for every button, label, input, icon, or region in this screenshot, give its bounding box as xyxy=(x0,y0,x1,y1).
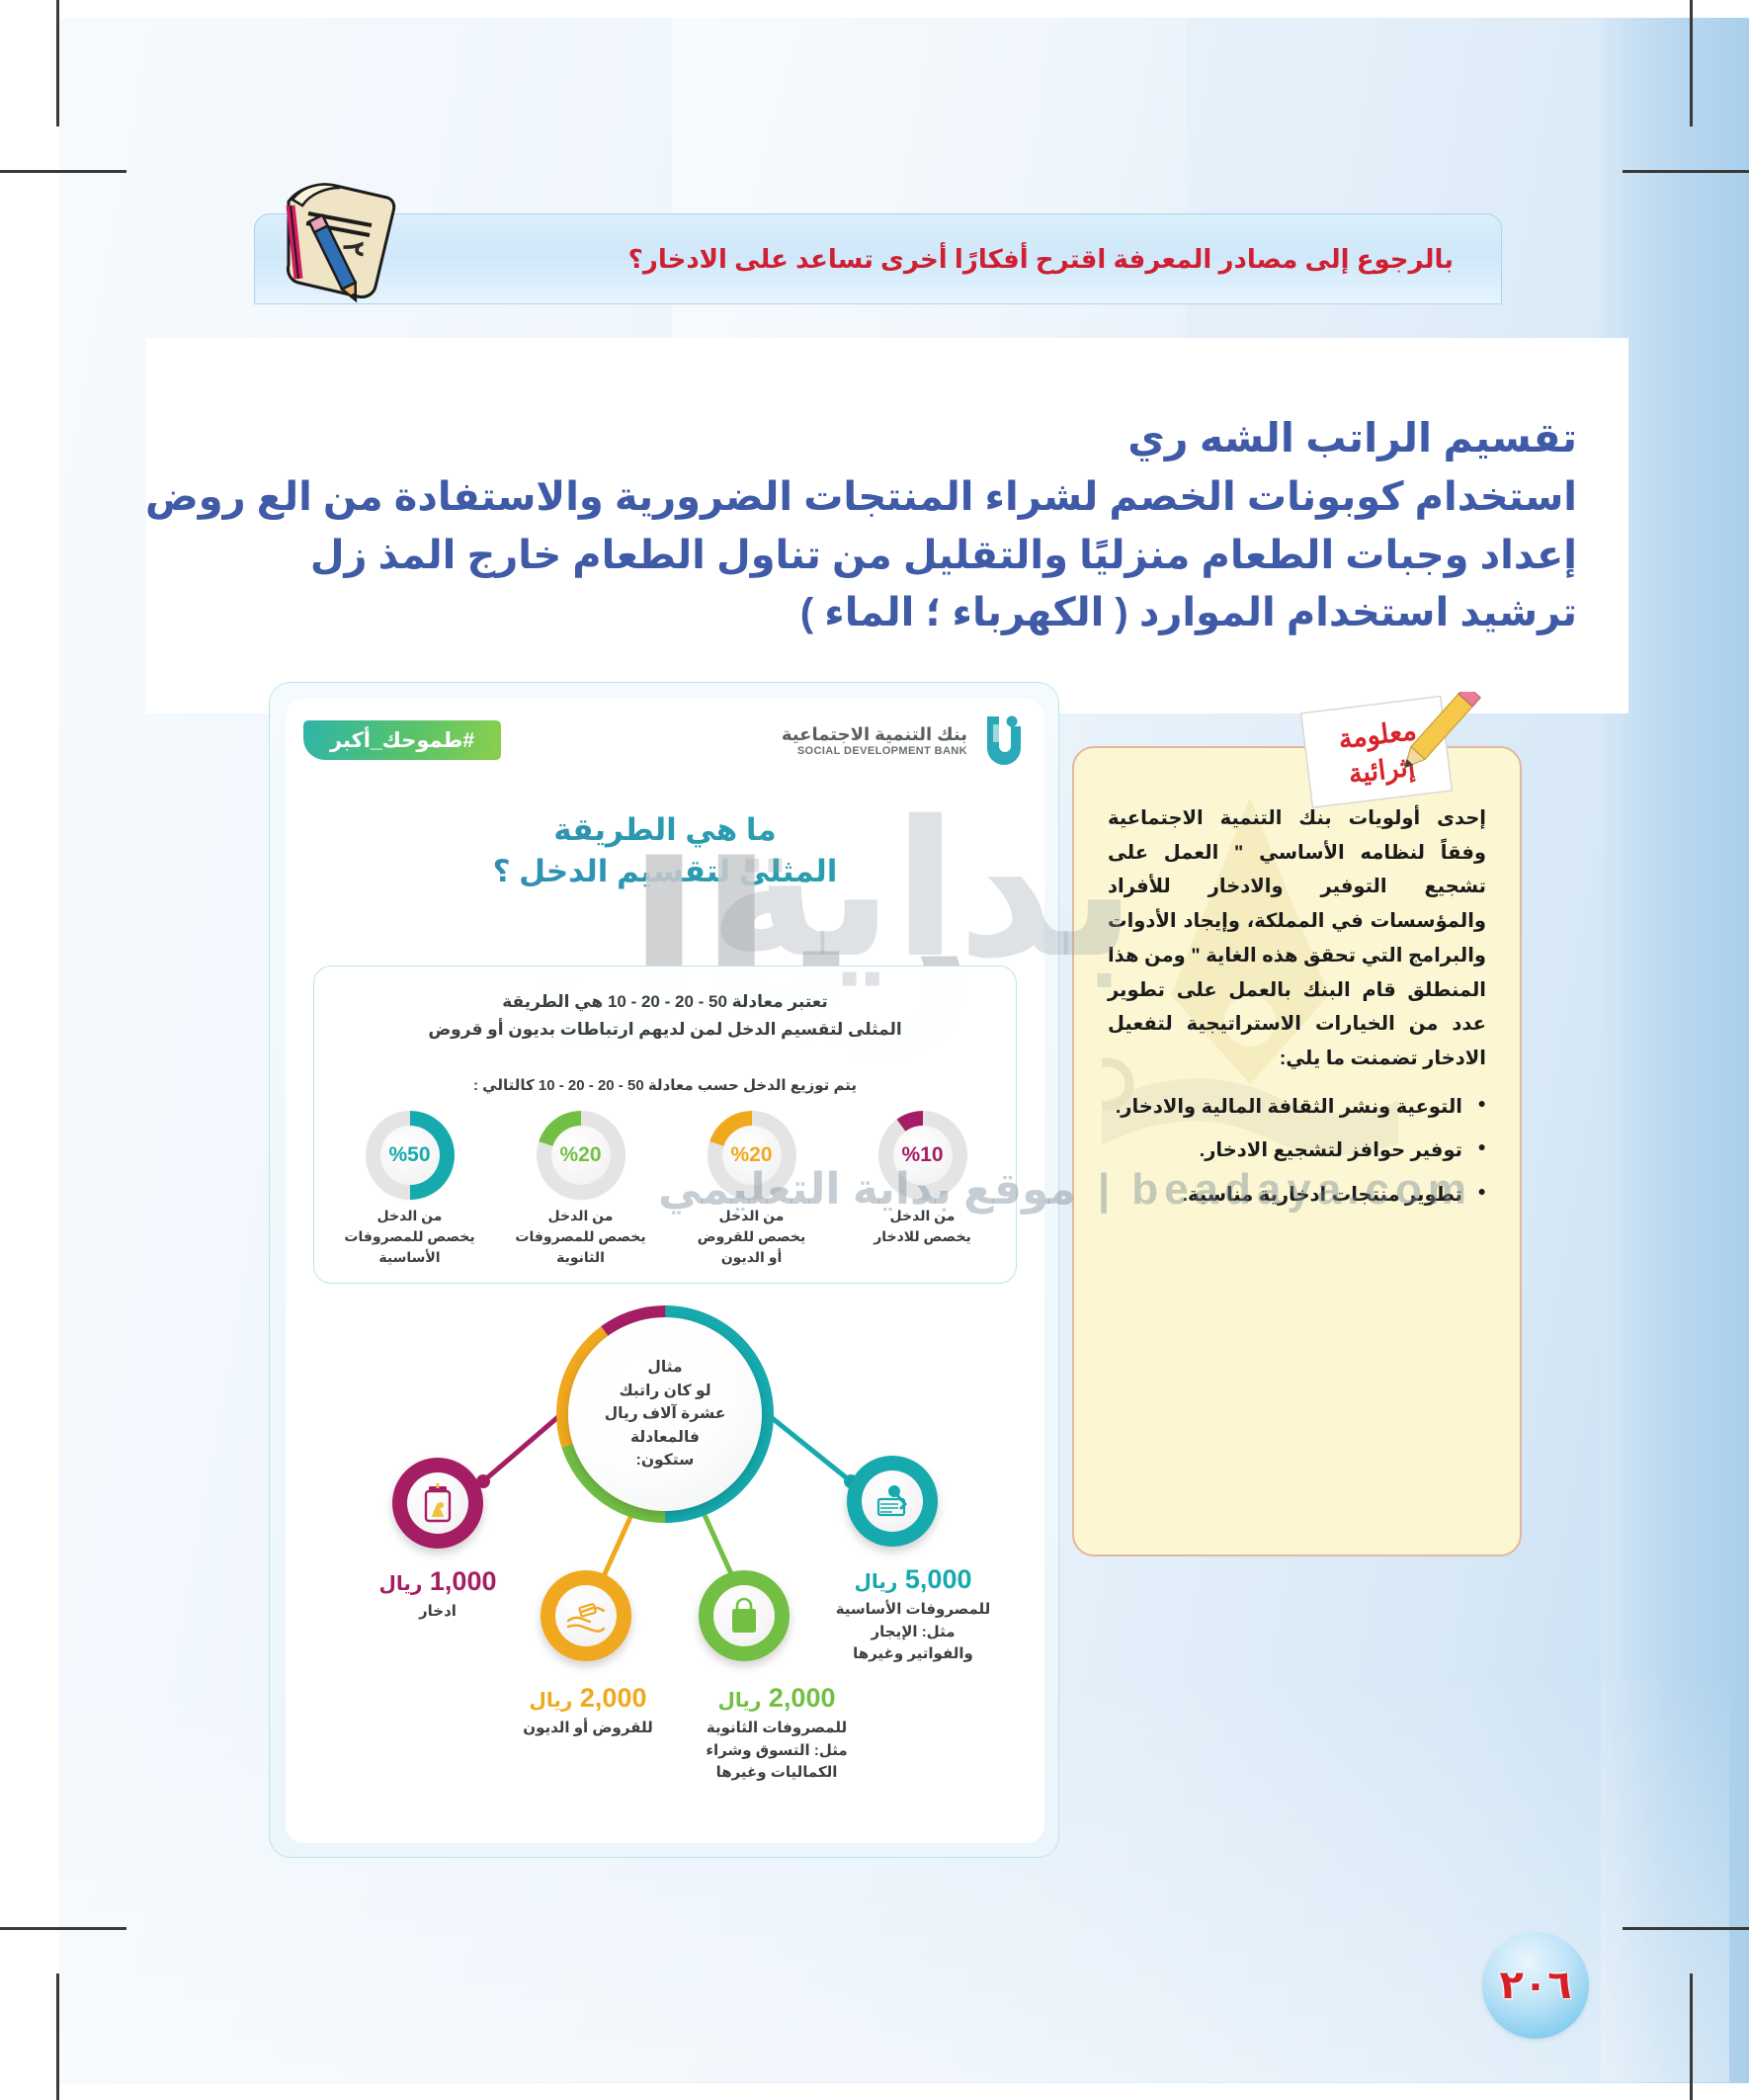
donut-chart-20-secondary: %20 xyxy=(541,1115,622,1196)
crop-mark-top-right-vertical xyxy=(1690,0,1693,126)
page-number: ٢٠٦ xyxy=(1499,1963,1571,2008)
donut-percent-20-loans: %20 xyxy=(730,1143,772,1167)
label-basic-amount: 5,000 ريال xyxy=(790,1564,1037,1595)
enrichment-bullet-1: التوعية ونشر الثقافة المالية والادخار. xyxy=(1108,1090,1486,1125)
infographic-title: ما هي الطريقة المثلى لتقسيم الدخل ؟ xyxy=(286,809,1044,891)
donut-caption-10-line1: من الدخل xyxy=(844,1206,1002,1226)
hub-line-5: ستكون: xyxy=(605,1449,726,1472)
hub-line-3: عشرة آلاف ريال xyxy=(605,1402,726,1426)
bank-logo: بنك التنمية الاجتماعية SOCIAL DEVELOPMEN… xyxy=(782,714,1023,766)
donut-percent-20-secondary: %20 xyxy=(559,1143,601,1167)
donut-cell-10: %10 من الدخل يخصص للادخار xyxy=(844,1115,1002,1247)
label-basic: 5,000 ريال للمصروفات الأساسية مثل: الإيج… xyxy=(790,1564,1037,1666)
node-secondary xyxy=(699,1570,790,1661)
answer-line-1: تقسيم الراتب الشه ري xyxy=(186,409,1577,468)
hashtag-label: #طموحك_أكبر xyxy=(330,728,474,753)
equation-line-2: المثلى لتقسيم الدخل لمن لديهم ارتباطات ب… xyxy=(340,1016,990,1044)
infographic-canvas: #طموحك_أكبر بنك التنمية الاجتماعية SOCIA… xyxy=(286,699,1044,1843)
enrichment-bullet-3: تطوير منتجات ادخارية مناسبة. xyxy=(1108,1178,1486,1213)
label-secondary-desc-2: مثل: التسوق وشراء xyxy=(653,1740,900,1763)
shopping-bag-icon xyxy=(728,1597,760,1635)
infographic-title-line2: المثلى لتقسيم الدخل ؟ xyxy=(286,851,1044,892)
crop-mark-bottom-right-horizontal xyxy=(1623,1927,1749,1930)
answer-card: تقسيم الراتب الشه ري استخدام كوبونات الخ… xyxy=(146,338,1628,714)
donut-caption-20-secondary: من الدخل يخصص للمصروفات الثانوية xyxy=(502,1206,660,1268)
bank-name-english: SOCIAL DEVELOPMENT BANK xyxy=(782,745,967,757)
label-secondary-desc-1: للمصروفات الثانوية xyxy=(653,1718,900,1740)
donut-percent-50: %50 xyxy=(388,1143,430,1167)
enrichment-bullet-2: توفير حوافز لتشجيع الادخار. xyxy=(1108,1134,1486,1168)
svg-text:٢: ٢ xyxy=(337,241,370,257)
donut-caption-50-line3: الأساسية xyxy=(331,1247,489,1268)
bank-name-arabic: بنك التنمية الاجتماعية xyxy=(782,724,967,745)
notebook-pencil-icon: ٢ xyxy=(269,176,427,304)
crop-mark-top-right-horizontal xyxy=(1623,170,1749,173)
label-basic-desc-2: مثل: الإيجار xyxy=(790,1622,1037,1644)
label-savings-currency: ريال xyxy=(379,1573,423,1595)
label-savings-amount: 1,000 ريال xyxy=(321,1566,554,1597)
node-secondary-inner xyxy=(713,1585,775,1646)
enrichment-box: إحدى أولويات بنك التنمية الاجتماعية وفقا… xyxy=(1072,746,1522,1556)
donut-caption-10-line2: يخصص للادخار xyxy=(844,1226,1002,1247)
bank-logo-words: بنك التنمية الاجتماعية SOCIAL DEVELOPMEN… xyxy=(782,724,967,757)
page-number-badge: ٢٠٦ xyxy=(1482,1932,1589,2039)
donut-caption-20l-line1: من الدخل xyxy=(673,1206,831,1226)
label-basic-desc-1: للمصروفات الأساسية xyxy=(790,1599,1037,1622)
label-savings-number: 1,000 xyxy=(430,1566,497,1597)
donut-cell-20-loans: %20 من الدخل يخصص للقروض أو الديون xyxy=(673,1115,831,1268)
node-savings xyxy=(392,1458,483,1549)
donut-cell-20-secondary: %20 من الدخل يخصص للمصروفات الثانوية xyxy=(502,1115,660,1268)
enrichment-bullet-list: التوعية ونشر الثقافة المالية والادخار. ت… xyxy=(1108,1090,1486,1213)
node-basic xyxy=(847,1456,938,1547)
question-text: بالرجوع إلى مصادر المعرفة اقترح أفكارًا … xyxy=(628,244,1454,275)
label-savings-desc: ادخار xyxy=(321,1601,554,1624)
donut-caption-20l-line2: يخصص للقروض xyxy=(673,1226,831,1247)
label-secondary-number: 2,000 xyxy=(769,1683,836,1714)
node-savings-inner xyxy=(407,1472,468,1534)
example-cluster: مثال لو كان راتبك عشرة آلاف ريال فالمعاد… xyxy=(286,1311,1044,1825)
infographic-header: #طموحك_أكبر بنك التنمية الاجتماعية SOCIA… xyxy=(286,713,1044,774)
savings-jar-icon xyxy=(421,1483,455,1523)
infographic-title-line1: ما هي الطريقة xyxy=(286,809,1044,851)
equation-line-1: تعتبر معادلة 50 - 20 - 20 - 10 هي الطريق… xyxy=(340,988,990,1016)
donut-percent-10: %10 xyxy=(901,1143,943,1167)
hub-text: مثال لو كان راتبك عشرة آلاف ريال فالمعاد… xyxy=(605,1356,726,1472)
enrichment-body: إحدى أولويات بنك التنمية الاجتماعية وفقا… xyxy=(1108,801,1486,1076)
donut-chart-10: %10 xyxy=(882,1115,963,1196)
answer-line-4: ترشيد استخدام الموارد ( الكهرباء ؛ الماء… xyxy=(186,584,1577,641)
label-basic-desc: للمصروفات الأساسية مثل: الإيجار والفواتي… xyxy=(790,1599,1037,1666)
donut-caption-50: من الدخل يخصص للمصروفات الأساسية xyxy=(331,1206,489,1268)
crop-mark-top-left-horizontal xyxy=(0,170,126,173)
label-secondary-desc: للمصروفات الثانوية مثل: التسوق وشراء الك… xyxy=(653,1718,900,1785)
answer-line-3: إعداد وجبات الطعام منزليًا والتقليل من ت… xyxy=(186,527,1577,584)
label-basic-currency: ريال xyxy=(855,1571,898,1593)
bank-logo-mark xyxy=(979,714,1023,766)
label-basic-number: 5,000 xyxy=(905,1564,972,1595)
node-loans-inner xyxy=(555,1585,617,1646)
hub-line-4: فالمعادلة xyxy=(605,1426,726,1450)
label-secondary-currency: ريال xyxy=(718,1690,762,1712)
donut-caption-20s-line3: الثانوية xyxy=(502,1247,660,1268)
label-savings: 1,000 ريال ادخار xyxy=(321,1566,554,1624)
page-right-band xyxy=(1601,18,1749,2083)
donut-caption-10: من الدخل يخصص للادخار xyxy=(844,1206,1002,1247)
label-secondary-amount: 2,000 ريال xyxy=(653,1683,900,1714)
label-secondary-desc-3: الكماليات وغيرها xyxy=(653,1762,900,1785)
hashtag-badge: #طموحك_أكبر xyxy=(303,720,501,760)
label-loans-currency: ريال xyxy=(530,1690,573,1712)
donut-row: %50 من الدخل يخصص للمصروفات الأساسية %2 xyxy=(324,1115,1008,1268)
donut-caption-50-line1: من الدخل xyxy=(331,1206,489,1226)
donut-caption-20s-line1: من الدخل xyxy=(502,1206,660,1226)
label-basic-desc-3: والفواتير وغيرها xyxy=(790,1643,1037,1666)
infographic-frame: #طموحك_أكبر بنك التنمية الاجتماعية SOCIA… xyxy=(269,682,1059,1858)
donut-cell-50: %50 من الدخل يخصص للمصروفات الأساسية xyxy=(331,1115,489,1268)
label-secondary: 2,000 ريال للمصروفات الثانوية مثل: التسو… xyxy=(653,1683,900,1785)
crop-mark-bottom-left-vertical xyxy=(56,1974,59,2100)
example-hub: مثال لو كان راتبك عشرة آلاف ريال فالمعاد… xyxy=(568,1317,762,1511)
textbook-page: بالرجوع إلى مصادر المعرفة اقترح أفكارًا … xyxy=(0,0,1749,2100)
label-loans-number: 2,000 xyxy=(580,1683,647,1714)
hand-money-icon xyxy=(566,1599,606,1633)
equation-card: تعتبر معادلة 50 - 20 - 20 - 10 هي الطريق… xyxy=(313,966,1017,1284)
label-savings-desc-1: ادخار xyxy=(321,1601,554,1624)
hub-line-2: لو كان راتبك xyxy=(605,1380,726,1403)
node-basic-inner xyxy=(862,1470,923,1532)
question-band: بالرجوع إلى مصادر المعرفة اقترح أفكارًا … xyxy=(254,213,1502,304)
donut-chart-20-loans: %20 xyxy=(711,1115,792,1196)
crop-mark-bottom-left-horizontal xyxy=(0,1927,126,1930)
crop-mark-top-left-vertical xyxy=(56,0,59,126)
donut-caption-20l-line3: أو الديون xyxy=(673,1247,831,1268)
crop-mark-bottom-right-vertical xyxy=(1690,1974,1693,2100)
equation-subline: يتم توزيع الدخل حسب معادلة 50 - 20 - 20 … xyxy=(340,1076,990,1094)
house-keys-icon xyxy=(873,1483,912,1519)
donut-caption-20-loans: من الدخل يخصص للقروض أو الديون xyxy=(673,1206,831,1268)
hub-line-1: مثال xyxy=(605,1356,726,1380)
donut-chart-50: %50 xyxy=(370,1115,451,1196)
donut-caption-50-line2: يخصص للمصروفات xyxy=(331,1226,489,1247)
donut-caption-20s-line2: يخصص للمصروفات xyxy=(502,1226,660,1247)
answer-line-2: استخدام كوبونات الخصم لشراء المنتجات الض… xyxy=(186,468,1577,526)
enrichment-tag: معلومة إثرائية xyxy=(1285,692,1482,810)
